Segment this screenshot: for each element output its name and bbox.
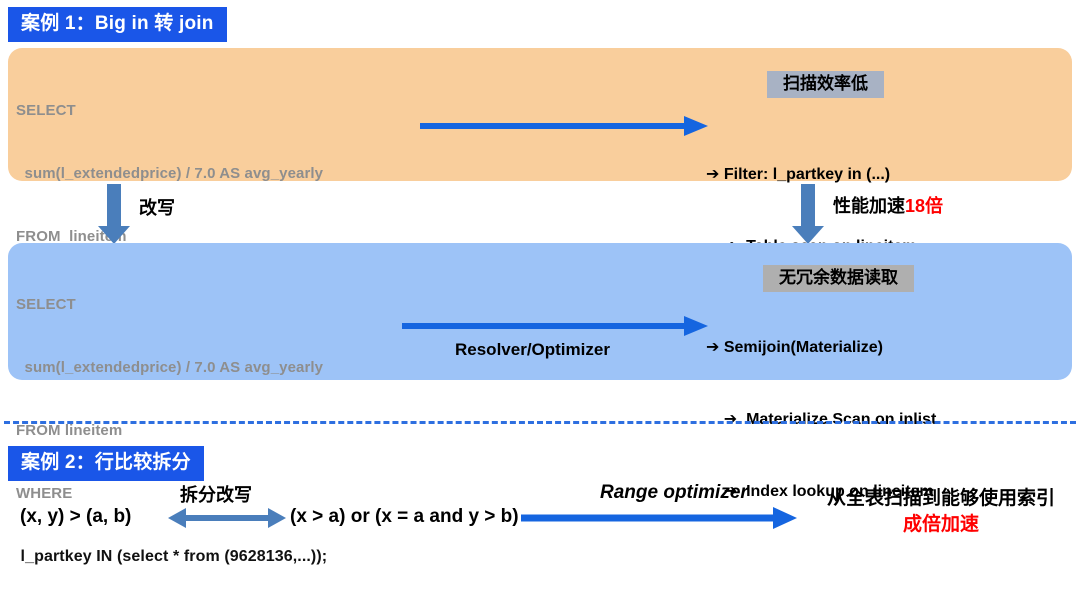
case2-right-expression: (x > a) or (x = a and y > b): [290, 507, 519, 526]
scan-flow-arrow-icon: [418, 113, 710, 139]
speedup-label-prefix: 性能加速: [833, 196, 905, 216]
case2-outcome-line-1: 从全表扫描到能够使用索引: [810, 488, 1072, 510]
after-sql-line-2: sum(l_extendedprice) / 7.0 AS avg_yearly: [16, 357, 327, 378]
before-sql-line-1: SELECT: [16, 100, 323, 121]
speedup-label-value: 18倍: [905, 196, 943, 216]
after-sql-code: SELECT sum(l_extendedprice) / 7.0 AS avg…: [16, 252, 327, 609]
after-sql-line-4: WHERE: [16, 483, 327, 504]
case-1-title-badge: 案例 1：Big in 转 join: [8, 7, 227, 42]
case2-outcome-line-2: 成倍加速: [810, 514, 1072, 536]
rewrite-down-arrow-icon: [96, 184, 132, 246]
after-sql-line-5: l_partkey IN (select * from (9628136,...…: [16, 546, 327, 567]
case2-outcome: 从全表扫描到能够使用索引 成倍加速: [810, 488, 1072, 536]
case2-left-expression: (x, y) > (a, b): [20, 507, 131, 526]
optimizer-flow-arrow-icon: [400, 313, 710, 339]
section-divider: [4, 421, 1076, 424]
rewrite-label: 改写: [139, 198, 175, 219]
after-plan-row-1: ➔ Semijoin(Materialize): [706, 336, 936, 360]
range-optimizer-arrow-icon: [521, 505, 799, 531]
case-2-title-badge: 案例 2：行比较拆分: [8, 446, 204, 481]
optimizer-label: Resolver/Optimizer: [455, 340, 610, 360]
speedup-down-arrow-icon: [790, 184, 826, 246]
range-optimizer-label: Range optimizer: [600, 482, 748, 504]
before-issue-chip: 扫描效率低: [767, 71, 884, 98]
before-sql-line-2: sum(l_extendedprice) / 7.0 AS avg_yearly: [16, 163, 323, 184]
after-plan-row-2: ➔ Materialize Scan on inlist: [706, 408, 936, 432]
after-sql-line-1: SELECT: [16, 294, 327, 315]
split-bidirectional-arrow-icon: [166, 505, 288, 531]
split-rewrite-label: 拆分改写: [180, 485, 252, 506]
slide-canvas: 案例 1：Big in 转 join SELECT sum(l_extended…: [0, 0, 1080, 554]
speedup-label: 性能加速18倍: [833, 196, 943, 217]
